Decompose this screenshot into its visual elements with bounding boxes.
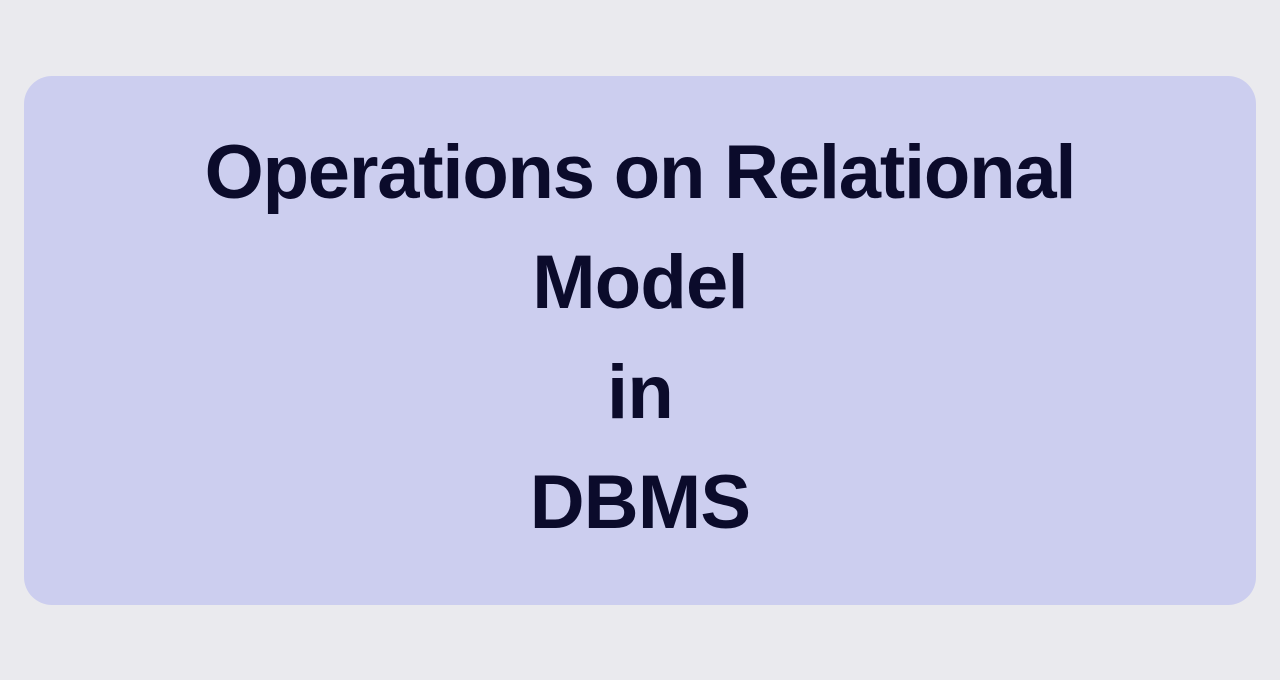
title-heading-block: Operations on Relational Model in DBMS <box>24 118 1256 558</box>
title-line-2: Model <box>44 228 1236 338</box>
title-line-3: in <box>44 338 1236 448</box>
slide-root: Operations on Relational Model in DBMS <box>0 0 1280 680</box>
title-line-1: Operations on Relational <box>44 118 1236 228</box>
title-card: Operations on Relational Model in DBMS <box>24 76 1256 605</box>
title-line-4: DBMS <box>44 448 1236 558</box>
